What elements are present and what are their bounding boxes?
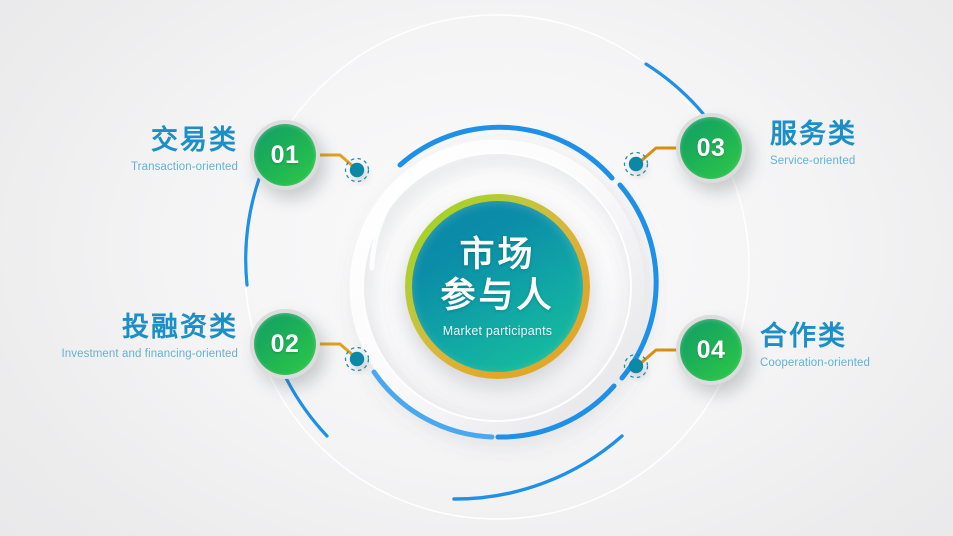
- node-label-02[interactable]: 投融资类 Investment and financing-oriented: [10, 313, 238, 360]
- node-label-01[interactable]: 交易类 Transaction-oriented: [48, 126, 238, 173]
- connector-dot-03: [625, 153, 648, 176]
- node-badge-02[interactable]: 02: [250, 309, 320, 379]
- node-label-04[interactable]: 合作类 Cooperation-oriented: [760, 322, 870, 369]
- node-title-04: 合作类: [760, 322, 870, 352]
- arc-outer-left: [246, 179, 259, 285]
- node-badge-04[interactable]: 04: [676, 315, 746, 385]
- node-badge-03[interactable]: 03: [676, 113, 746, 183]
- node-number-03: 03: [697, 134, 726, 163]
- node-title-01: 交易类: [48, 126, 238, 156]
- node-number-04: 04: [697, 336, 726, 365]
- node-title-02: 投融资类: [10, 313, 238, 343]
- node-subtitle-01: Transaction-oriented: [48, 161, 238, 173]
- center-hub-inner: 市场 参与人 Market participants: [412, 201, 583, 372]
- center-subtitle: Market participants: [443, 324, 552, 338]
- node-badge-01[interactable]: 01: [250, 120, 320, 190]
- node-number-02: 02: [271, 330, 300, 359]
- center-title-line2: 参与人: [440, 276, 554, 317]
- center-title-line1: 市场: [459, 235, 535, 276]
- connector-01: [320, 155, 355, 168]
- diagram-canvas: 市场 参与人 Market participants 01 02 03 04 交…: [0, 0, 953, 536]
- node-subtitle-02: Investment and financing-oriented: [10, 348, 238, 360]
- node-label-03[interactable]: 服务类 Service-oriented: [770, 120, 857, 167]
- center-hub: 市场 参与人 Market participants: [405, 194, 590, 379]
- connector-04: [641, 350, 676, 363]
- arc-outer-bottom-left: [286, 378, 327, 436]
- arc-outer-bottom: [454, 436, 622, 499]
- node-number-01: 01: [271, 141, 300, 170]
- connector-02: [320, 344, 355, 357]
- node-subtitle-04: Cooperation-oriented: [760, 357, 870, 369]
- node-subtitle-03: Service-oriented: [770, 155, 857, 167]
- connector-03: [641, 148, 676, 161]
- node-title-03: 服务类: [770, 120, 857, 150]
